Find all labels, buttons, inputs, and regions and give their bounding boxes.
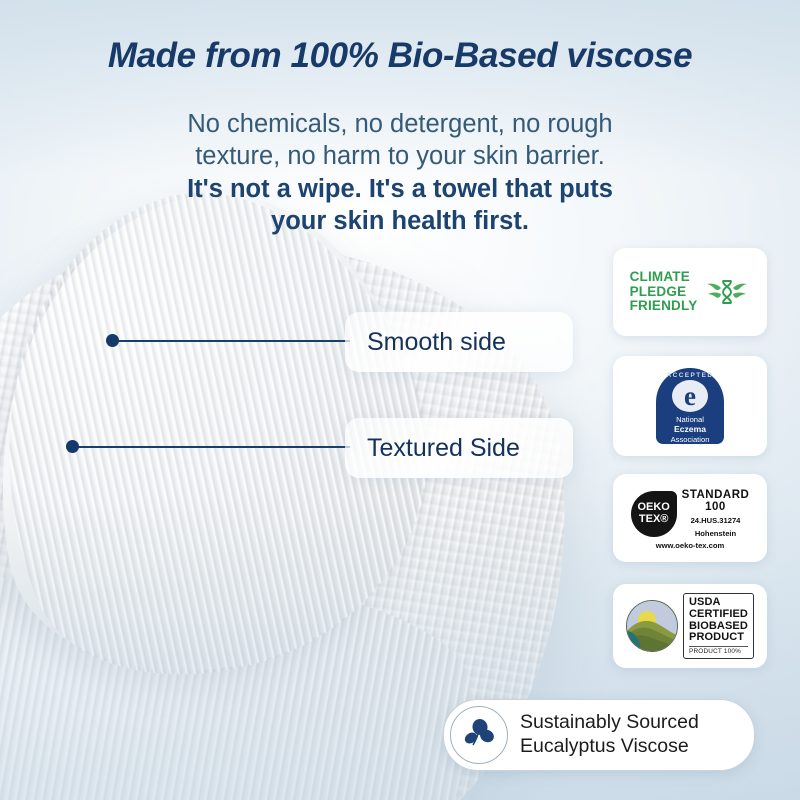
leader-line-textured	[72, 446, 350, 448]
product-infographic: Made from 100% Bio-Based viscose No chem…	[0, 0, 800, 800]
usda-line-4: PRODUCT	[689, 632, 748, 644]
oeko-brand-line-2: TEX®	[639, 514, 669, 526]
callout-textured-side: Textured Side	[345, 418, 573, 478]
badge-climate-pledge-friendly: CLIMATE PLEDGE FRIENDLY	[613, 248, 767, 336]
oeko-certificate-number: 24.HUS.31274	[682, 516, 750, 525]
subheadline-line-1: No chemicals, no detergent, no rough	[90, 108, 710, 140]
leader-dot-textured	[66, 440, 79, 453]
eucalyptus-leaf-icon	[460, 716, 498, 754]
eucalyptus-line-1: Sustainably Sourced	[520, 711, 699, 735]
eczema-line-2: Eczema	[674, 424, 706, 434]
leader-line-smooth	[112, 340, 350, 342]
eczema-line-1: National	[671, 415, 710, 424]
usda-subline: PRODUCT 100%	[689, 646, 748, 655]
eczema-line-3: Association	[671, 435, 710, 444]
subheadline-line-2: texture, no harm to your skin barrier.	[90, 140, 710, 172]
page-title: Made from 100% Bio-Based viscose	[0, 36, 800, 76]
eczema-shield: ACCEPTED e National Eczema Association	[656, 368, 724, 444]
eczema-accepted-label: ACCEPTED	[656, 372, 724, 379]
eucalyptus-icon-circle	[450, 706, 508, 764]
subheadline: No chemicals, no detergent, no rough tex…	[90, 108, 710, 238]
climate-pledge-line-2: PLEDGE	[630, 285, 698, 300]
climate-pledge-line-1: CLIMATE	[630, 270, 698, 285]
oeko-url: www.oeko-tex.com	[656, 541, 725, 550]
usda-landscape-icon	[626, 600, 678, 652]
leader-dot-smooth	[106, 334, 119, 347]
subheadline-line-4: your skin health first.	[90, 205, 710, 237]
eczema-e-mark: e	[672, 380, 708, 412]
climate-pledge-line-3: FRIENDLY	[630, 299, 698, 314]
oeko-tex-logo: OEKO TEX®	[631, 491, 677, 537]
oeko-standard-label: STANDARD	[682, 489, 750, 501]
usda-line-2: CERTIFIED	[689, 609, 748, 621]
oeko-standard-number: 100	[682, 501, 750, 513]
oeko-institute: Hohenstein	[682, 529, 750, 538]
subheadline-line-3: It's not a wipe. It's a towel that puts	[90, 173, 710, 205]
callout-smooth-side: Smooth side	[345, 312, 573, 372]
eucalyptus-line-2: Eucalyptus Viscose	[520, 735, 699, 759]
badge-usda-certified-biobased: USDA CERTIFIED BIOBASED PRODUCT PRODUCT …	[613, 584, 767, 668]
badge-oeko-tex: OEKO TEX® STANDARD 100 24.HUS.31274 Hohe…	[613, 474, 767, 562]
winged-hourglass-icon	[704, 274, 750, 310]
badge-national-eczema-association: ACCEPTED e National Eczema Association	[613, 356, 767, 456]
eucalyptus-callout: Sustainably Sourced Eucalyptus Viscose	[443, 699, 755, 771]
